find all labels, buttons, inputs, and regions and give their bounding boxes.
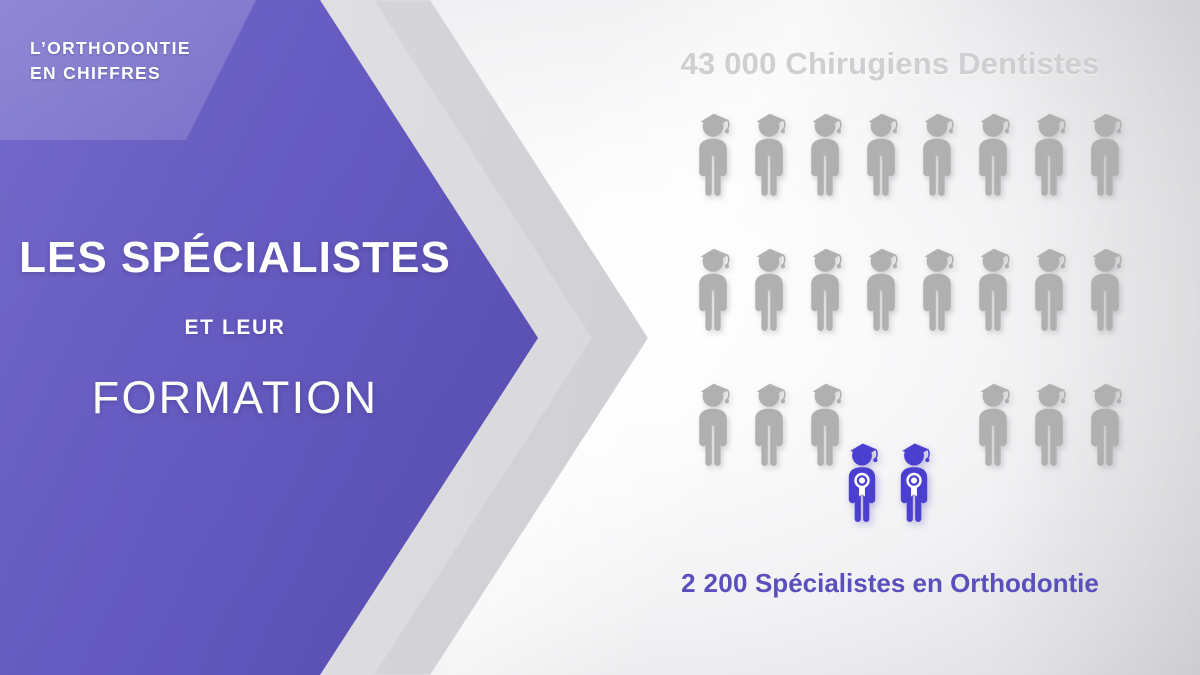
person-icon — [858, 108, 904, 197]
specialist-person-icon — [840, 438, 884, 523]
person-icon — [1026, 378, 1072, 467]
person-icon — [802, 243, 848, 332]
person-icon — [746, 243, 792, 332]
person-icon — [858, 243, 904, 332]
person-icon — [746, 378, 792, 467]
person-icon — [1082, 378, 1128, 467]
person-icon — [1026, 108, 1072, 197]
person-icon — [746, 108, 792, 197]
infographic-slide: L’ORTHODONTIE EN CHIFFRES LES SPÉCIALIST… — [0, 0, 1200, 675]
pictogram-row-2 — [690, 243, 1110, 363]
eyebrow-line-2: EN CHIFFRES — [30, 61, 260, 86]
person-icon — [802, 108, 848, 197]
person-icon — [690, 108, 736, 197]
headline-secondary: FORMATION — [0, 372, 470, 424]
person-icon — [970, 378, 1016, 467]
person-icon — [970, 108, 1016, 197]
person-icon — [1082, 243, 1128, 332]
pictogram-row-3 — [690, 378, 1110, 498]
caption-total-specialists: 2 200 Spécialistes en Orthodontie — [640, 568, 1140, 599]
eyebrow-line-1: L’ORTHODONTIE — [30, 38, 191, 58]
person-icon — [690, 243, 736, 332]
pictogram-chart — [690, 108, 1110, 558]
person-icon — [914, 108, 960, 197]
specialists-count: 2 200 — [681, 568, 748, 598]
pictogram-row-1 — [690, 108, 1110, 228]
eyebrow-title: L’ORTHODONTIE EN CHIFFRES — [30, 36, 260, 86]
headline-connector: ET LEUR — [0, 316, 470, 340]
person-icon — [914, 243, 960, 332]
headline-primary: LES SPÉCIALISTES — [0, 236, 470, 280]
specialists-label: Spécialistes en Orthodontie — [755, 568, 1099, 598]
headline-block: LES SPÉCIALISTES ET LEUR FORMATION — [0, 236, 470, 424]
highlighted-specialists-group — [840, 438, 950, 558]
person-icon — [1026, 243, 1072, 332]
person-icon — [1082, 108, 1128, 197]
person-icon — [970, 243, 1016, 332]
caption-total-dentists: 43 000 Chirugiens Dentistes — [640, 46, 1140, 82]
person-icon — [690, 378, 736, 467]
specialist-person-icon — [892, 438, 936, 523]
